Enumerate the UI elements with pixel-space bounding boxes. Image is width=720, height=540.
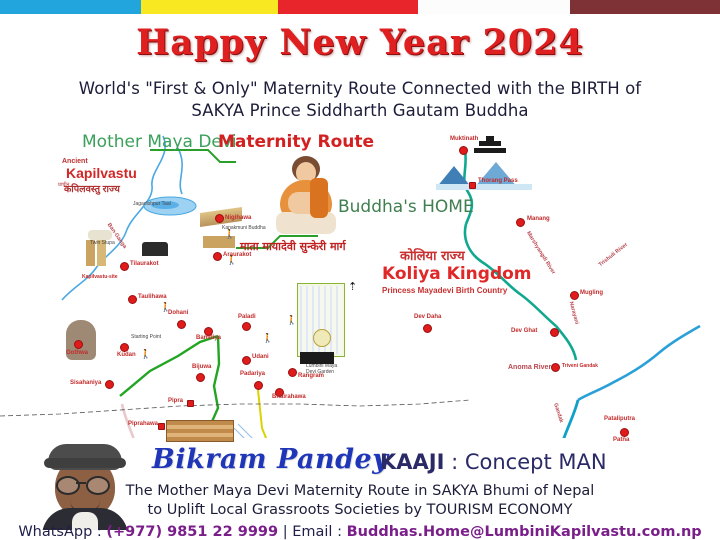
flag-color-bar [0,0,720,14]
poster-root: Happy New Year 2024 World's "First & Onl… [0,0,720,540]
subtitle-line-1: World's "First & Only" Maternity Route C… [0,78,720,100]
walker-icon-6: 🚶 [286,316,297,325]
map-label-devghat: Dev Ghat [511,328,537,334]
map-label-pipra: Pipra [168,398,183,404]
map-dot-devghat[interactable] [550,328,559,337]
map-label-paladi: Paladi [238,314,256,320]
whatsapp-label: WhatsApp : [18,524,106,540]
map-dot-triveni-gandak[interactable] [551,363,560,372]
kapilvastu-ancient-label: Ancient [62,158,88,165]
lumbini-garden-inset [297,283,345,357]
flag-segment-maroon [570,0,720,14]
map-dot-taulihawa[interactable] [128,295,137,304]
map-dot-piprahawa[interactable] [158,423,165,430]
map-dot-sisahaniya[interactable] [105,380,114,389]
map-dot-patna[interactable] [620,428,629,437]
map-label-kudan: Kudan [117,352,136,358]
map-label-kapilvastu-site: Kapilvastu-site [82,274,118,280]
maternity-route-map: Mother Maya Devi Maternity Route Ancient… [0,128,720,438]
map-label-pataliputra: Pataliputra [604,416,635,422]
footer-band: Bikram Pandey KAAJI : Concept MAN The Mo… [0,438,720,540]
map-dot-kudan[interactable] [120,343,129,352]
flag-segment-blue [0,0,141,14]
walker-icon-5: 🚶 [262,334,273,343]
flag-segment-red [278,0,418,14]
map-label-thorang-pass: Thorang Pass [478,178,518,184]
tagline: The Mother Maya Devi Maternity Route in … [0,482,720,520]
walker-icon-3: 🚶 [160,303,171,312]
india-border-line [0,400,470,416]
map-dot-thorang-pass[interactable] [469,182,476,189]
tagline-line-2: to Uplift Local Grassroots Societies by … [0,501,720,520]
concept-man-text: : Concept MAN [444,450,606,474]
kapilvastu-name: Kapilvastu [66,165,137,181]
map-dot-rangram[interactable] [288,368,297,377]
route-heading-green: Mother Maya Devi [82,132,237,152]
flag-segment-yellow [141,0,278,14]
map-label-bamdiya: Bamdiya [196,335,221,341]
walker-icon-1: 🚶 [224,230,235,239]
tilaurakot-ruin-icon [142,242,168,256]
map-label-jagadishpur-taal: Jagadishpur Taal [133,201,171,207]
map-dot-araurakot[interactable] [213,252,222,261]
map-dot-devdaha[interactable] [423,324,432,333]
map-label-padariya: Padariya [240,371,265,377]
walker-icon-2: 🚶 [226,256,237,265]
map-label-manang: Manang [527,216,550,222]
map-label-sisahaniya: Sisahaniya [70,380,101,386]
map-dot-mugling[interactable] [570,291,579,300]
map-dot-muktinath[interactable] [459,146,468,155]
map-dot-gothwa[interactable] [74,340,83,349]
north-arrow-icon: ⇡ [348,280,357,293]
map-label-piprahawa: Piprahawa [128,421,158,427]
map-label-nigihawa: Nigihawa [225,215,251,221]
maya-devi-illustration [270,156,340,238]
map-dot-udani[interactable] [242,356,251,365]
devanagari-route-label: माता मायादेवी सुन्केरी मार्ग [240,239,346,254]
whatsapp-number[interactable]: (+977) 9851 22 9999 [106,524,278,540]
map-label-bhairahawa: Bhairahawa [272,394,306,400]
map-label-gothwa: Gothwa [66,350,88,356]
email-label: Email : [292,524,346,540]
map-label-twin-stupa: Twin Stupa [90,240,115,246]
koliya-english: Koliya Kingdom [382,264,532,284]
koliya-subtitle: Princess Mayadevi Birth Country [382,286,507,295]
kaaji-concept-man: KAAJI : Concept MAN [380,450,607,474]
map-label-rangram: Rangram [298,373,324,379]
signature-text: Bikram Pandey [152,444,388,475]
subtitle-line-2: SAKYA Prince Siddharth Gautam Buddha [0,100,720,122]
page-title: Happy New Year 2024 [0,22,720,63]
map-dot-padariya[interactable] [254,381,263,390]
river-label-anoma: Anoma River [508,364,551,371]
kapilvastu-devanagari: कपिलवस्तु राज्य [64,182,120,195]
map-dot-dohani[interactable] [177,320,186,329]
route-heading-red: Maternity Route [218,132,374,152]
map-dot-pipra[interactable] [187,400,194,407]
map-dot-nigihawa[interactable] [215,214,224,223]
email-address[interactable]: Buddhas.Home@LumbiniKapilvastu.com.np [347,524,702,540]
map-dot-manang[interactable] [516,218,525,227]
map-dot-tilaurakot[interactable] [120,262,129,271]
buddhas-home-label: Buddha's HOME [338,197,474,217]
map-label-mugling: Mugling [580,290,603,296]
map-dot-bijuwa[interactable] [196,373,205,382]
map-label-triveni-gandak: Triveni Gandak [562,363,598,369]
contact-separator: | [278,524,292,540]
map-dot-paladi[interactable] [242,322,251,331]
lumbini-temple-icon [300,352,334,364]
map-label-starting-point: Starting Point [131,334,161,340]
koliya-devanagari: कोलिया राज्य [400,246,465,264]
walker-icon-4: 🚶 [140,350,151,359]
tagline-line-1: The Mother Maya Devi Maternity Route in … [0,482,720,501]
map-label-tilaurakot: Tilaurakot [130,261,159,267]
map-label-bijuwa: Bijuwa [192,364,211,370]
flag-segment-white [418,0,570,14]
map-label-muktinath: Muktinath [450,136,478,142]
page-subtitle: World's "First & Only" Maternity Route C… [0,78,720,123]
contact-line: WhatsApp : (+977) 9851 22 9999 | Email :… [0,524,720,540]
map-label-taulihawa: Taulihawa [138,294,167,300]
kaaji-word: KAAJI [380,450,444,474]
map-label-udani: Udani [252,354,269,360]
map-label-devdaha: Dev Daha [414,314,441,320]
